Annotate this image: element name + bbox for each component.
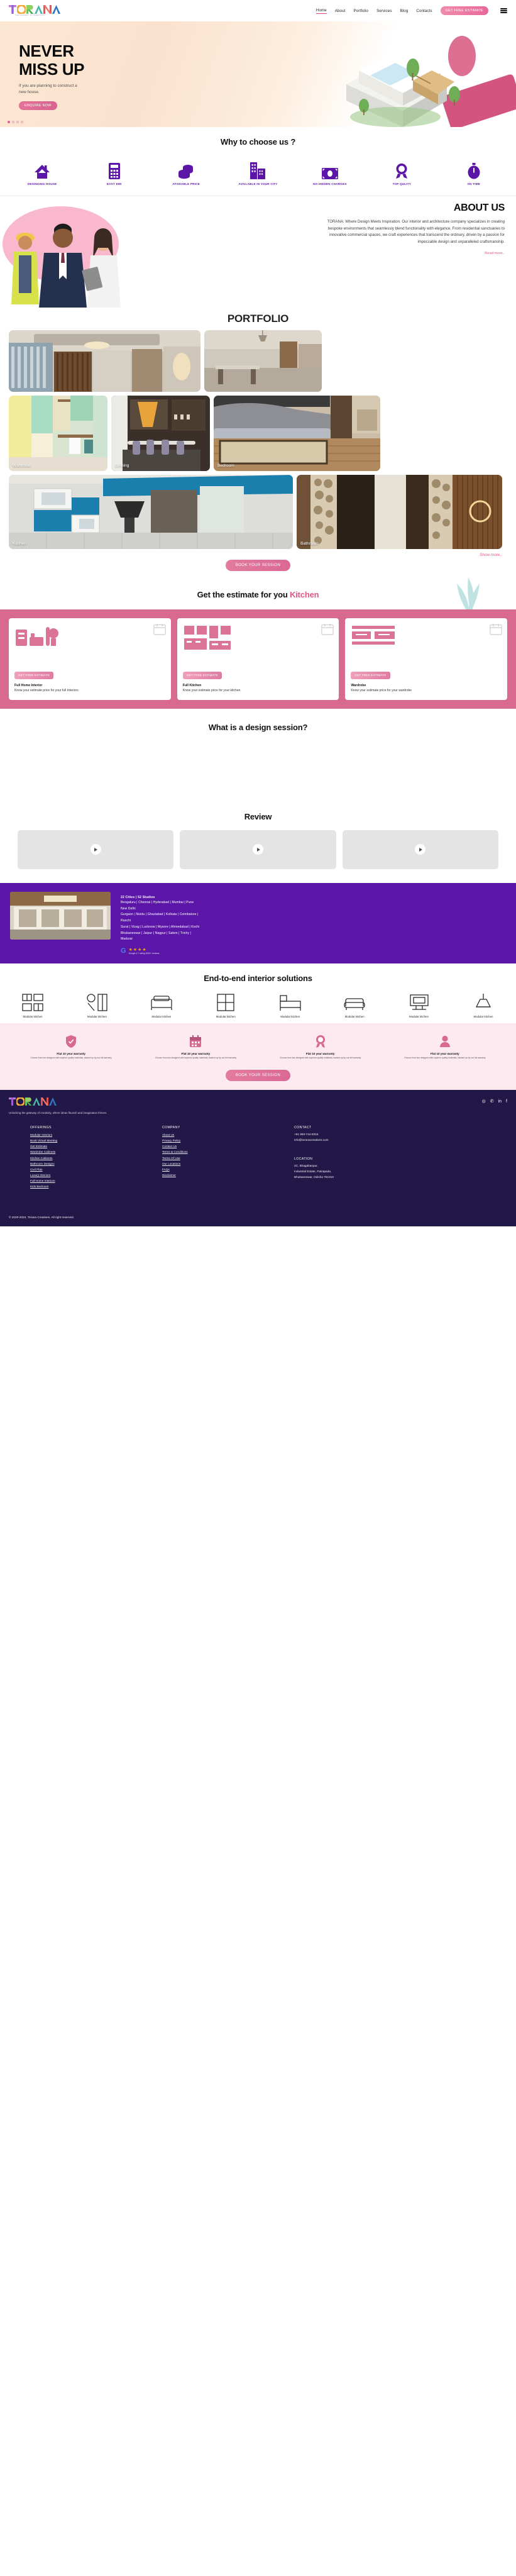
portfolio-card[interactable]: Kitchen bbox=[9, 475, 293, 549]
modular-kitchen-icon bbox=[5, 992, 60, 1013]
play-icon[interactable] bbox=[91, 844, 101, 855]
nav-item-portfolio[interactable]: Portfolio bbox=[353, 9, 368, 13]
portfolio-card[interactable] bbox=[9, 330, 200, 392]
wardrobe-icon bbox=[351, 625, 502, 651]
why-item-on-time[interactable]: ON TIME bbox=[446, 159, 502, 187]
plant-pot-illustration bbox=[443, 577, 493, 609]
nav-item-about[interactable]: About bbox=[335, 9, 346, 13]
design-session-section: What is a design session? bbox=[0, 709, 516, 803]
warranty-item: Flat 10 year warranty Choose from two de… bbox=[404, 1033, 486, 1060]
nav-item-services[interactable]: Services bbox=[376, 9, 392, 13]
estimate-card-title: Full Kitchen bbox=[183, 684, 334, 687]
linkedin-icon[interactable]: in bbox=[498, 1099, 502, 1104]
footer-address-line: 2C, Bhagabanpur, bbox=[294, 1163, 451, 1169]
e2e-item-label: Modular kitchen bbox=[69, 1015, 124, 1018]
footer-link[interactable]: Contact Us bbox=[162, 1145, 177, 1148]
portfolio-image-dinning bbox=[111, 396, 210, 471]
estimate-title: Get the estimate for you Kitchen bbox=[0, 590, 516, 599]
portfolio-card[interactable]: Bathroom bbox=[297, 475, 502, 549]
footer-link[interactable]: Book Virtual Meeting bbox=[30, 1139, 57, 1142]
footer-columns: OFFERINGS Modular Interiors Book Virtual… bbox=[9, 1126, 507, 1190]
why-item-label: AFODABLE PRICE bbox=[158, 182, 214, 187]
portfolio-row-2: Wardrobe Dinning bbox=[9, 396, 507, 471]
footer-column-heading: CONTACT bbox=[294, 1126, 451, 1130]
portfolio-image-bedroom bbox=[214, 396, 380, 471]
list-item[interactable]: Contact Us bbox=[162, 1143, 294, 1149]
why-item-afodable-price[interactable]: AFODABLE PRICE bbox=[158, 159, 214, 187]
list-item[interactable]: Our Locations bbox=[162, 1161, 294, 1167]
logo-letter-n bbox=[43, 5, 52, 14]
about-content: ABOUT US TORANA: Where Design Meets Insp… bbox=[322, 203, 505, 255]
end-to-end-items: Modular kitchen Modular kitchen Modular … bbox=[0, 983, 516, 1018]
estimate-card-wardrobe[interactable]: GET FREE ESTIMATE Wardrobe Know your est… bbox=[345, 618, 507, 700]
list-item[interactable]: FAQs bbox=[162, 1167, 294, 1172]
warranty-cta-wrap: BOOK YOUR SESSION bbox=[9, 1070, 507, 1081]
portfolio-card[interactable]: Wardrobe bbox=[9, 396, 107, 471]
portfolio-image-wardrobe bbox=[9, 396, 107, 471]
e2e-item[interactable]: Modular kitchen bbox=[392, 992, 447, 1018]
logo-letter-n bbox=[41, 1097, 48, 1106]
logo-letter-r bbox=[26, 5, 34, 14]
about-section: ABOUT US TORANA: Where Design Meets Insp… bbox=[0, 196, 516, 313]
e2e-item-label: Modular kitchen bbox=[198, 1015, 253, 1018]
warranty-items: Flat 10 year warranty Choose from two de… bbox=[9, 1033, 507, 1060]
estimate-card-title: Full Home Interior bbox=[14, 684, 165, 687]
studio-cities-line: Bengaluru | Chennai | Hyderabad | Mumbai… bbox=[121, 900, 199, 906]
why-item-label: EASY EMI bbox=[87, 182, 142, 187]
hero-subtitle: If you are planning to construct a new h… bbox=[19, 83, 85, 95]
why-item-label: TOP QULITY bbox=[374, 182, 429, 187]
warranty-item-title: Flat 10 year warranty bbox=[280, 1052, 361, 1055]
e2e-item[interactable]: Modular kitchen bbox=[5, 992, 60, 1018]
why-item-available-in-your-city[interactable]: AVAILABLE IN YOUR CITY bbox=[230, 159, 285, 187]
portfolio-card[interactable] bbox=[204, 330, 322, 392]
kitchen-icon bbox=[183, 625, 334, 651]
footer-link[interactable]: FAQs bbox=[162, 1168, 170, 1171]
list-item[interactable]: Book Virtual Meeting bbox=[30, 1138, 162, 1143]
studio-storefront-photo bbox=[10, 892, 111, 940]
why-item-no-hidden-charges[interactable]: NO HIDDEN CHARGES bbox=[302, 159, 358, 187]
award-ribbon-icon bbox=[374, 159, 429, 179]
logo-letter-t bbox=[9, 5, 16, 14]
list-item[interactable]: Luxury Interiors bbox=[30, 1172, 162, 1178]
about-body: TORANA: Where Design Meets Inspiration. … bbox=[322, 219, 505, 246]
estimate-title-plain: Get the estimate for you bbox=[197, 590, 290, 599]
badge-icon bbox=[280, 1033, 361, 1050]
estimate-header: Get the estimate for you Kitchen bbox=[0, 577, 516, 609]
review-title: Review bbox=[0, 812, 516, 821]
footer-company-list: About Us Privacy Policy Contact Us Terms… bbox=[162, 1132, 294, 1178]
review-video-card[interactable] bbox=[180, 830, 336, 869]
footer-address-line: Industrial Estate, Patrapada, bbox=[294, 1169, 451, 1175]
portfolio-caption: Kitchen bbox=[13, 541, 26, 546]
why-choose-title: Why to choose us ? bbox=[0, 137, 516, 147]
footer-address-line: Bhubaneswar, Odisha 751019 bbox=[294, 1175, 451, 1180]
e2e-item-label: Modular kitchen bbox=[5, 1015, 60, 1018]
footer-link[interactable]: Bathroom Designs bbox=[30, 1162, 55, 1165]
estimate-card-desc: Know your estimate price for your kitche… bbox=[183, 689, 334, 692]
logo-letter-o bbox=[17, 5, 26, 14]
list-item[interactable]: Full Home Interiors bbox=[30, 1178, 162, 1184]
site-footer: Unlocking the gateway of creativity, whe… bbox=[0, 1090, 516, 1226]
list-item[interactable]: Wardrobe Cabinets bbox=[30, 1149, 162, 1155]
google-logo-icon: G bbox=[121, 947, 126, 955]
footer-link[interactable]: Luxury Interiors bbox=[30, 1174, 50, 1177]
footer-link[interactable]: Privacy Policy bbox=[162, 1139, 180, 1142]
calendar-icon bbox=[321, 624, 334, 635]
warranty-item-title: Flat 10 year warranty bbox=[30, 1052, 112, 1055]
list-item[interactable]: Terms & Conditions bbox=[162, 1149, 294, 1155]
end-to-end-section: End-to-end interior solutions Modular ki… bbox=[0, 963, 516, 1023]
review-cards bbox=[0, 830, 516, 869]
footer-column-heading: LOCATION bbox=[294, 1157, 451, 1161]
e2e-item[interactable]: Modular kitchen bbox=[456, 992, 511, 1018]
money-note-icon bbox=[302, 159, 358, 179]
why-item-label: ON TIME bbox=[446, 182, 502, 187]
list-item[interactable]: Bathroom Designs bbox=[30, 1161, 162, 1167]
portfolio-caption: Dinning bbox=[115, 464, 129, 468]
estimate-card-desc: Know your estimate price for your wardro… bbox=[351, 689, 502, 692]
warranty-item: Flat 10 year warranty Choose from two de… bbox=[155, 1033, 236, 1060]
calendar-icon bbox=[155, 1033, 236, 1050]
google-rating: G ★★★★ Google 4.7 rating 1000+ reviews bbox=[121, 947, 199, 955]
warranty-item: Flat 10 year warranty Choose from two de… bbox=[280, 1033, 361, 1060]
studio-cities-line: Gurgaon | Noida | Ghaziabad | Kolkata | … bbox=[121, 912, 199, 918]
sofa-icon bbox=[134, 992, 189, 1013]
warranty-item-desc: Choose from two designed with superior q… bbox=[280, 1057, 361, 1060]
whatsapp-icon[interactable]: ✆ bbox=[490, 1099, 494, 1104]
estimate-title-accent: Kitchen bbox=[290, 590, 319, 599]
hero-dot-4[interactable] bbox=[21, 121, 23, 123]
hamburger-icon[interactable] bbox=[500, 8, 507, 14]
hero-slider-dots[interactable] bbox=[8, 121, 23, 123]
portfolio-row-3: Kitchen bbox=[9, 475, 507, 549]
logo-letter-a1 bbox=[35, 5, 43, 14]
house-icon bbox=[14, 159, 70, 179]
why-item-label: NO HIDDEN CHARGES bbox=[302, 182, 358, 187]
warranty-item-title: Flat 10 year warranty bbox=[404, 1052, 486, 1055]
estimate-cards-band: GET FREE ESTIMATE Full Home Interior Kno… bbox=[0, 609, 516, 709]
portfolio-card[interactable]: Dinning bbox=[111, 396, 210, 471]
footer-column-heading: COMPANY bbox=[162, 1126, 294, 1130]
portfolio-image-dining-room bbox=[204, 330, 322, 392]
portfolio-grid: Wardrobe Dinning bbox=[0, 330, 516, 549]
list-item[interactable]: Kitchen Cabinets bbox=[30, 1155, 162, 1161]
portfolio-caption: Wardrobe bbox=[13, 464, 31, 468]
footer-link[interactable]: Kids Bedroom bbox=[30, 1185, 48, 1188]
logo-letter-a1 bbox=[33, 1097, 40, 1106]
why-item-top-qulity[interactable]: TOP QULITY bbox=[374, 159, 429, 187]
about-read-more-link[interactable]: Read more.. bbox=[322, 252, 505, 255]
warranty-item-desc: Choose from two designed with superior q… bbox=[30, 1057, 112, 1060]
portfolio-image-living-hall bbox=[9, 330, 200, 392]
footer-column-company: COMPANY About Us Privacy Policy Contact … bbox=[162, 1126, 294, 1190]
coins-icon bbox=[158, 159, 214, 179]
why-item-label: DESINGING HOUSE bbox=[14, 182, 70, 187]
footer-top: Unlocking the gateway of creativity, whe… bbox=[9, 1097, 507, 1115]
footer-column-offerings: OFFERINGS Modular Interiors Book Virtual… bbox=[30, 1126, 162, 1190]
hero-isometric-house-illustration bbox=[290, 40, 491, 127]
e2e-item-label: Modular kitchen bbox=[392, 1015, 447, 1018]
calendar-icon bbox=[490, 624, 502, 635]
why-item-designing-house[interactable]: DESINGING HOUSE bbox=[14, 159, 70, 187]
portfolio-image-kitchen bbox=[9, 475, 293, 549]
hero-enquire-now-button[interactable]: ENQUIRE NOW bbox=[19, 101, 57, 110]
footer-offerings-list: Modular Interiors Book Virtual Meeting G… bbox=[30, 1132, 162, 1190]
footer-link[interactable]: Get Estimate bbox=[30, 1145, 47, 1148]
wardrobe-icon bbox=[69, 992, 124, 1013]
list-item[interactable]: Modular Interiors bbox=[30, 1132, 162, 1138]
portfolio-caption: Bedroom bbox=[217, 464, 234, 468]
bed-icon bbox=[263, 992, 318, 1013]
portfolio-show-more-link[interactable]: Show more.. bbox=[0, 553, 516, 557]
hero-dot-1[interactable] bbox=[8, 121, 10, 123]
warranty-section: Flat 10 year warranty Choose from two de… bbox=[0, 1023, 516, 1090]
hero-dot-2[interactable] bbox=[12, 121, 14, 123]
footer-link[interactable]: Disclaimer bbox=[162, 1174, 176, 1177]
studio-cities-line: New Delhi bbox=[121, 906, 199, 912]
hero-copy: NEVER MISS UP If you are planning to con… bbox=[19, 42, 85, 110]
footer-phone[interactable]: +91 993-744-8316 bbox=[294, 1132, 451, 1138]
hero-title-line2: MISS UP bbox=[19, 60, 85, 79]
estimate-card-button[interactable]: GET FREE ESTIMATE bbox=[351, 672, 390, 679]
warranty-item-title: Flat 10 year warranty bbox=[155, 1052, 236, 1055]
nav-item-home[interactable]: Home bbox=[316, 8, 327, 14]
footer-social-links: ◎ ✆ in f bbox=[482, 1097, 507, 1104]
footer-link[interactable]: Full Home Interiors bbox=[30, 1179, 55, 1182]
lamp-icon bbox=[456, 992, 511, 1013]
portfolio-title: PORTFOLIO bbox=[0, 313, 516, 325]
e2e-item-label: Modular kitchen bbox=[327, 1015, 382, 1018]
warranty-item-desc: Choose from two designed with superior q… bbox=[155, 1057, 236, 1060]
e2e-item[interactable]: Modular kitchen bbox=[263, 992, 318, 1018]
estimate-card-button[interactable]: GET FREE ESTIMATE bbox=[14, 672, 53, 679]
design-session-title: What is a design session? bbox=[0, 723, 516, 732]
about-title: ABOUT US bbox=[322, 203, 505, 214]
logo-letter-o bbox=[16, 1097, 25, 1106]
why-choose-section: Why to choose us ? DESINGING HOUSE EASY … bbox=[0, 127, 516, 196]
footer-link[interactable]: Terms Of Use bbox=[162, 1157, 180, 1160]
logo-letter-a2 bbox=[49, 1097, 57, 1106]
why-choose-items: DESINGING HOUSE EASY EMI AFODABLE PRICE … bbox=[0, 159, 516, 187]
window-icon bbox=[198, 992, 253, 1013]
footer-copyright: © 2020-2024, Torana Creatives. All right… bbox=[9, 1216, 507, 1219]
footer-link[interactable]: Civil Plan bbox=[30, 1168, 43, 1171]
footer-logo-letters bbox=[9, 1097, 107, 1106]
rating-text: Google 4.7 rating 1000+ reviews bbox=[129, 952, 160, 955]
list-item[interactable]: Disclaimer bbox=[162, 1172, 294, 1178]
play-icon[interactable] bbox=[415, 844, 425, 855]
end-to-end-title: End-to-end interior solutions bbox=[0, 974, 516, 983]
portfolio-row-1 bbox=[9, 330, 507, 392]
furniture-set-icon bbox=[14, 625, 165, 651]
warranty-book-session-button[interactable]: BOOK YOUR SESSION bbox=[226, 1070, 290, 1081]
e2e-item-label: Modular kitchen bbox=[263, 1015, 318, 1018]
couch-icon bbox=[327, 992, 382, 1013]
portfolio-image-bathroom bbox=[297, 475, 502, 549]
studio-info: 22 Cities | 52 Studios Bengaluru | Chenn… bbox=[121, 892, 199, 955]
estimate-card-button[interactable]: GET FREE ESTIMATE bbox=[183, 672, 222, 679]
footer-link[interactable]: About Us bbox=[162, 1133, 174, 1136]
list-item[interactable]: About Us bbox=[162, 1132, 294, 1138]
portfolio-book-wrap: BOOK YOUR SESSION bbox=[0, 560, 516, 571]
footer-brand[interactable]: Unlocking the gateway of creativity, whe… bbox=[9, 1097, 107, 1115]
list-item[interactable]: Civil Plan bbox=[30, 1167, 162, 1172]
list-item[interactable]: Get Estimate bbox=[30, 1143, 162, 1149]
e2e-item[interactable]: Modular kitchen bbox=[198, 992, 253, 1018]
logo-tagline: THE GATEWAY OF CREATIVITY bbox=[15, 14, 60, 16]
nav-item-blog[interactable]: Blog bbox=[400, 9, 409, 13]
e2e-item[interactable]: Modular kitchen bbox=[327, 992, 382, 1018]
portfolio-caption: Bathroom bbox=[300, 541, 319, 546]
play-icon[interactable] bbox=[253, 844, 263, 855]
footer-email[interactable]: info@toranacreatives.com bbox=[294, 1138, 451, 1143]
instagram-icon[interactable]: ◎ bbox=[482, 1099, 486, 1104]
footer-column-contact: CONTACT +91 993-744-8316 info@toranacrea… bbox=[294, 1126, 451, 1190]
hero-banner: NEVER MISS UP If you are planning to con… bbox=[0, 21, 516, 127]
brand-logo[interactable]: THE GATEWAY OF CREATIVITY bbox=[9, 5, 60, 16]
portfolio-section: PORTFOLIO bbox=[0, 313, 516, 577]
footer-link[interactable]: Terms & Conditions bbox=[162, 1150, 188, 1153]
warranty-item-desc: Choose from two designed with superior q… bbox=[404, 1057, 486, 1060]
logo-letter-r bbox=[25, 1097, 32, 1106]
studio-headline: 22 Cities | 52 Studios bbox=[121, 896, 199, 899]
list-item[interactable]: Privacy Policy bbox=[162, 1138, 294, 1143]
why-item-easy-emi[interactable]: EASY EMI bbox=[87, 159, 142, 187]
list-item[interactable]: Terms Of Use bbox=[162, 1155, 294, 1161]
shield-icon bbox=[30, 1033, 112, 1050]
calculator-icon bbox=[87, 159, 142, 179]
footer-link[interactable]: Modular Interiors bbox=[30, 1133, 52, 1136]
person-icon bbox=[404, 1033, 486, 1050]
logo-letter-a2 bbox=[52, 5, 60, 14]
footer-column-heading: OFFERINGS bbox=[30, 1126, 162, 1130]
facebook-icon[interactable]: f bbox=[506, 1099, 507, 1104]
why-item-label: AVAILABLE IN YOUR CITY bbox=[230, 182, 285, 187]
footer-link[interactable]: Our Locations bbox=[162, 1162, 180, 1165]
footer-link[interactable]: Wardrobe Cabinets bbox=[30, 1150, 55, 1153]
studio-cities-line: Madurai bbox=[121, 936, 199, 942]
studio-cities-line: Bhubaneswar | Jaipur | Nagpur | Salem | … bbox=[121, 931, 199, 936]
e2e-item[interactable]: Modular kitchen bbox=[134, 992, 189, 1018]
studio-cities-line: Ranchi bbox=[121, 918, 199, 924]
e2e-item[interactable]: Modular kitchen bbox=[69, 992, 124, 1018]
hero-title-line1: NEVER bbox=[19, 42, 85, 60]
tv-unit-icon bbox=[392, 992, 447, 1013]
site-header: THE GATEWAY OF CREATIVITY Home About Por… bbox=[0, 0, 516, 21]
footer-tagline: Unlocking the gateway of creativity, whe… bbox=[9, 1111, 107, 1115]
estimate-card-desc: Know your estimate price for your full I… bbox=[14, 689, 165, 692]
studio-cities-line: Surat | Vizag | Lucknow | Mysore | Ahmed… bbox=[121, 924, 199, 930]
portfolio-card[interactable]: Bedroom bbox=[214, 396, 380, 471]
hero-dot-3[interactable] bbox=[16, 121, 19, 123]
estimate-card-full-home-interior[interactable]: GET FREE ESTIMATE Full Home Interior Kno… bbox=[9, 618, 171, 700]
estimate-card-title: Wardrobe bbox=[351, 684, 502, 687]
page-root: THE GATEWAY OF CREATIVITY Home About Por… bbox=[0, 0, 516, 1226]
logo-letter-t bbox=[9, 1097, 16, 1106]
header-get-free-estimate-button[interactable]: GET FREE ESTIMATE bbox=[441, 6, 488, 15]
buildings-icon bbox=[230, 159, 285, 179]
list-item[interactable]: Kids Bedroom bbox=[30, 1184, 162, 1189]
main-nav: Home About Portfolio Services Blog Conta… bbox=[316, 6, 507, 15]
stopwatch-icon bbox=[446, 159, 502, 179]
studio-locations-section: 22 Cities | 52 Studios Bengaluru | Chenn… bbox=[0, 883, 516, 963]
estimate-card-full-kitchen[interactable]: GET FREE ESTIMATE Full Kitchen Know your… bbox=[177, 618, 339, 700]
warranty-item: Flat 10 year warranty Choose from two de… bbox=[30, 1033, 112, 1060]
estimate-cards-row: GET FREE ESTIMATE Full Home Interior Kno… bbox=[9, 618, 507, 700]
review-video-card[interactable] bbox=[18, 830, 173, 869]
e2e-item-label: Modular kitchen bbox=[134, 1015, 189, 1018]
review-section: Review bbox=[0, 803, 516, 883]
rating-stars: ★★★★ bbox=[129, 947, 160, 952]
portfolio-book-session-button[interactable]: BOOK YOUR SESSION bbox=[226, 560, 290, 571]
e2e-item-label: Modular kitchen bbox=[456, 1015, 511, 1018]
footer-link[interactable]: Kitchen Cabinets bbox=[30, 1157, 52, 1160]
nav-item-contacts[interactable]: Contacts bbox=[416, 9, 432, 13]
calendar-icon bbox=[153, 624, 166, 635]
logo-letters bbox=[9, 5, 60, 14]
about-team-photo bbox=[3, 210, 128, 311]
review-video-card[interactable] bbox=[343, 830, 498, 869]
